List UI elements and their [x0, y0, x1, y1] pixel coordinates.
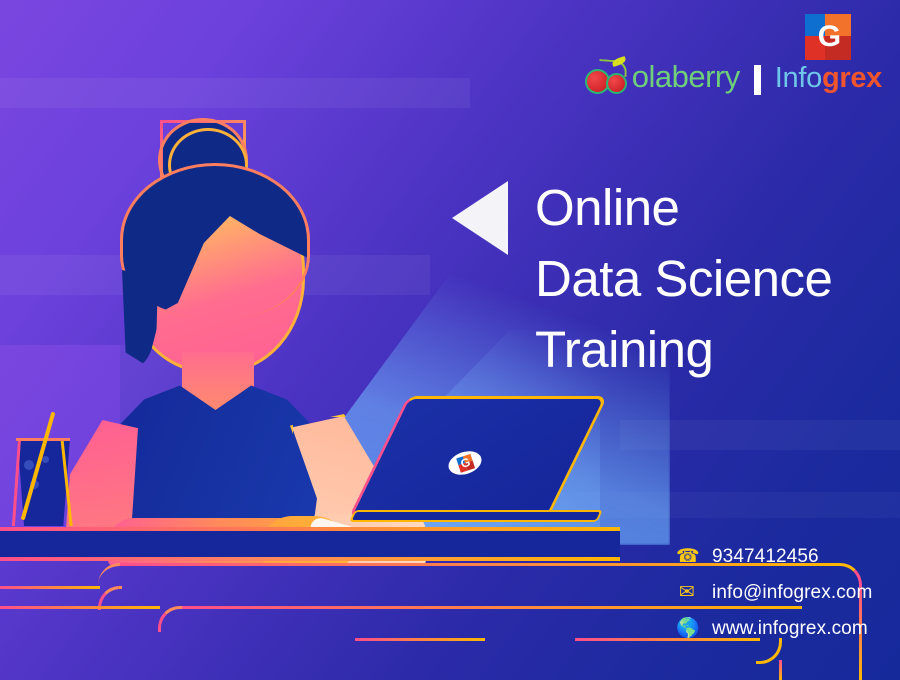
contact-phone-value: 9347412456: [712, 546, 819, 568]
envelope-icon: ✉: [676, 582, 698, 604]
laptop-badge-mark-icon: G: [456, 454, 475, 473]
triangle-bullet-icon: [452, 181, 508, 255]
colaberry-text-part2: berry: [672, 59, 740, 95]
circuit-line-3: [0, 606, 160, 609]
cherry-icon: [585, 60, 631, 94]
infogrex-text-part1: Info: [775, 62, 822, 94]
headline-line-1: Online: [535, 172, 832, 243]
infogrex-mark-icon: G: [805, 14, 851, 60]
colaberry-logo: ola berry: [585, 59, 740, 95]
colaberry-wordmark: ola berry: [585, 59, 740, 95]
circuit-corner-5: [158, 606, 184, 632]
drink-glass: [14, 438, 70, 526]
bubble-2: [42, 456, 49, 463]
circuit-corner-2: [98, 563, 122, 587]
contact-email-row[interactable]: ✉ info@infogrex.com: [676, 582, 872, 604]
brand-divider: [754, 65, 761, 95]
desk-bottom-edge: [0, 557, 620, 561]
circuit-line-1: [0, 586, 100, 589]
circuit-dash-1: [355, 638, 485, 641]
colaberry-text-part1: ola: [632, 59, 672, 95]
contact-website-value: www.infogrex.com: [712, 618, 868, 640]
contact-phone-row[interactable]: ☎ 9347412456: [676, 546, 872, 568]
hair-side: [122, 270, 158, 366]
infogrex-text-part2: grex: [822, 62, 882, 94]
headline-line-2: Data Science: [535, 243, 832, 314]
laptop-base: [349, 510, 603, 522]
promotional-poster: ola berry G Infogrex Online Data Science…: [0, 0, 900, 680]
headline-line-3: Training: [535, 314, 832, 385]
person-illustration: [60, 120, 420, 540]
contact-list: ☎ 9347412456 ✉ info@infogrex.com 🌎 www.i…: [676, 546, 872, 640]
page-title: Online Data Science Training: [535, 172, 832, 385]
background-band-1: [0, 78, 470, 108]
glass-outline-left: [12, 438, 21, 526]
circuit-vert-3: [779, 660, 782, 680]
bubble-1: [24, 460, 34, 470]
infogrex-mark-letter: G: [814, 20, 844, 54]
infogrex-logo: G Infogrex: [775, 14, 882, 95]
contact-email-value: info@infogrex.com: [712, 582, 872, 604]
brand-logo-bar: ola berry G Infogrex: [585, 14, 882, 95]
contact-website-row[interactable]: 🌎 www.infogrex.com: [676, 618, 872, 640]
infogrex-wordmark: Infogrex: [775, 62, 882, 95]
cherry-fruit-small-icon: [606, 73, 627, 94]
globe-icon: 🌎: [676, 618, 698, 640]
desk-surface: [0, 531, 620, 557]
phone-icon: ☎: [676, 546, 698, 568]
